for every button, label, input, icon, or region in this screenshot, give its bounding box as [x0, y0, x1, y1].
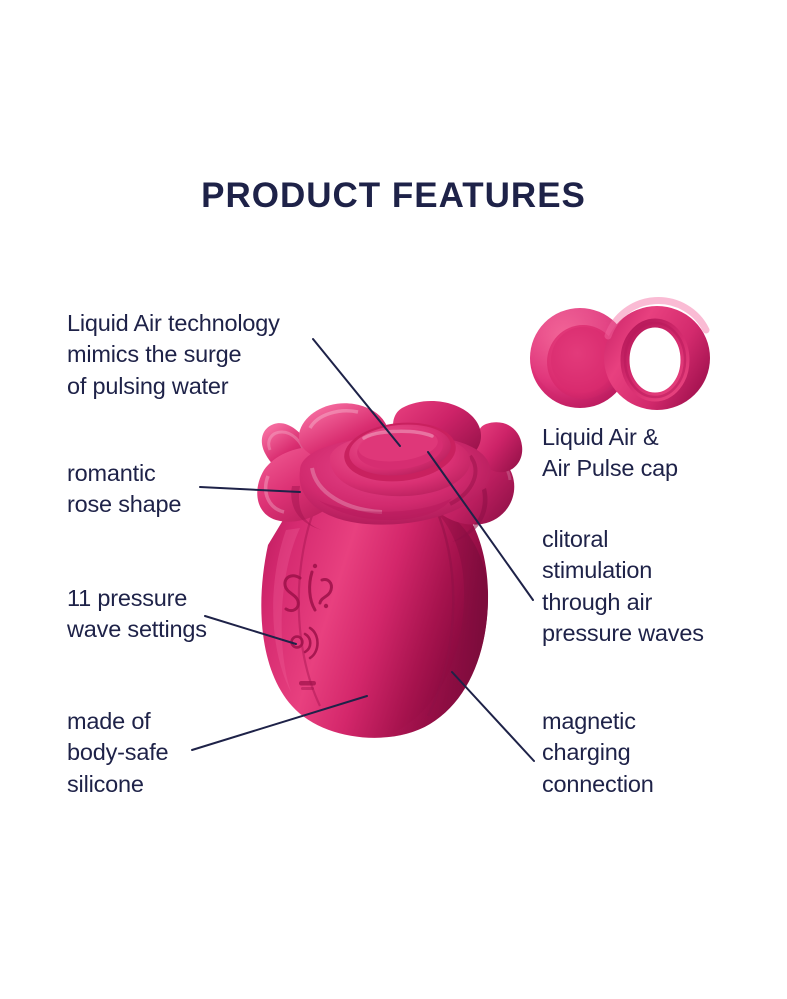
callout-body-safe-silicone: made of body-safe silicone	[67, 706, 317, 800]
callout-romantic-rose-shape: romantic rose shape	[67, 458, 317, 521]
product-features-infographic: PRODUCT FEATURES Liquid Air technology m…	[0, 0, 787, 999]
callout-clitoral-stimulation: clitoral stimulation through air pressur…	[542, 524, 782, 649]
rose-product	[257, 401, 522, 738]
callout-pressure-wave-settings: 11 pressure wave settings	[67, 583, 317, 646]
callout-magnetic-charging-connection: magnetic charging connection	[542, 706, 777, 800]
callout-liquid-air-and-air-pulse-cap: Liquid Air & Air Pulse cap	[542, 422, 772, 485]
air-pulse-cap	[604, 301, 710, 410]
callout-liquid-air-technology: Liquid Air technology mimics the surge o…	[67, 308, 337, 402]
leader-line-magnetic	[452, 672, 534, 761]
magnetic-charging-contacts	[299, 681, 316, 690]
page-title: PRODUCT FEATURES	[0, 176, 787, 216]
